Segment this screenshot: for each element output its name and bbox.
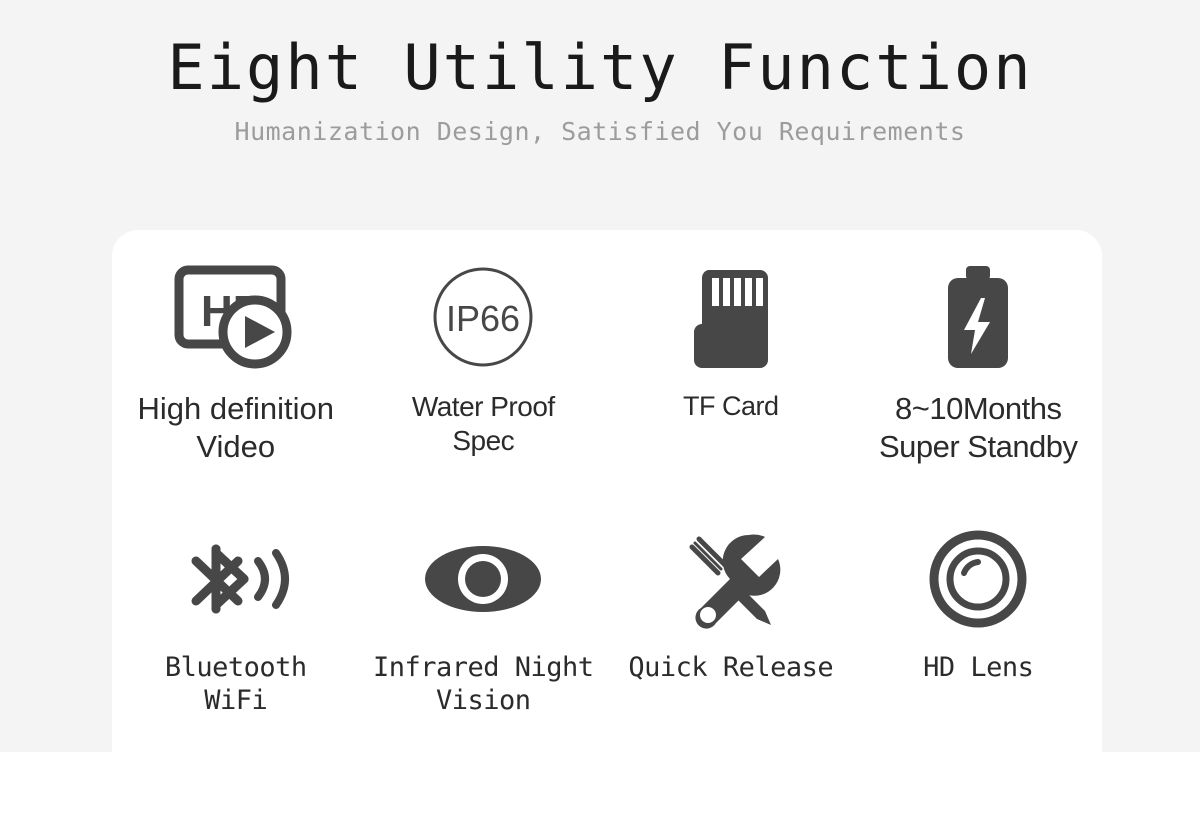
hd-video-icon: HD (173, 258, 299, 376)
feature-label-line2: Spec (412, 424, 555, 458)
feature-label-line1: Water Proof (412, 390, 555, 424)
eye-night-vision-icon (423, 520, 543, 638)
feature-item-hd-lens[interactable]: HD Lens (855, 520, 1103, 770)
feature-item-water-proof-spec[interactable]: IP66 Water Proof Spec (360, 258, 608, 520)
feature-item-infrared-night-vision[interactable]: Infrared Night Vision (360, 520, 608, 770)
feature-label: TF Card (677, 390, 785, 423)
feature-item-quick-release[interactable]: Quick Release (607, 520, 855, 770)
feature-label-line1: High definition (138, 390, 334, 428)
feature-label: Infrared Night Vision (367, 652, 600, 718)
lens-icon (928, 520, 1028, 638)
feature-label-line1: Infrared Night (373, 652, 594, 685)
feature-highlight-page: Eight Utility Function Humanization Desi… (0, 0, 1200, 830)
tools-quick-release-icon (679, 520, 783, 638)
feature-label: Quick Release (622, 652, 839, 685)
features-row-2: Bluetooth WiFi Infrared Night Vision (112, 520, 1102, 770)
feature-label-line2: Vision (373, 685, 594, 718)
feature-label-line1: HD Lens (923, 652, 1033, 685)
feature-label: High definition Video (132, 390, 340, 466)
feature-label-line2: WiFi (165, 685, 307, 718)
features-card: HD High definition Video IP66 (112, 230, 1102, 775)
feature-label-line1: Bluetooth (165, 652, 307, 685)
feature-label: HD Lens (917, 652, 1039, 685)
feature-item-bluetooth-wifi[interactable]: Bluetooth WiFi (112, 520, 360, 770)
feature-label: Water Proof Spec (406, 390, 561, 458)
feature-label-line1: 8~10Months (879, 390, 1078, 428)
bluetooth-wifi-icon (180, 520, 292, 638)
feature-item-high-definition-video[interactable]: HD High definition Video (112, 258, 360, 520)
tf-card-icon (688, 258, 774, 376)
feature-item-tf-card[interactable]: TF Card (607, 258, 855, 520)
feature-label-line2: Super Standby (879, 428, 1078, 466)
features-row-1: HD High definition Video IP66 (112, 258, 1102, 520)
feature-label-line1: Quick Release (628, 652, 833, 685)
feature-label: 8~10Months Super Standby (873, 390, 1084, 466)
ip66-waterproof-icon: IP66 (430, 258, 536, 376)
ip66-icon-text: IP66 (446, 298, 520, 339)
feature-label-line2: Video (138, 428, 334, 466)
header: Eight Utility Function Humanization Desi… (0, 0, 1200, 147)
page-title: Eight Utility Function (0, 0, 1200, 103)
feature-label: Bluetooth WiFi (159, 652, 313, 718)
page-subtitle: Humanization Design, Satisfied You Requi… (0, 103, 1200, 147)
battery-icon (940, 258, 1016, 376)
feature-label-line1: TF Card (683, 390, 779, 423)
feature-item-super-standby[interactable]: 8~10Months Super Standby (855, 258, 1103, 520)
